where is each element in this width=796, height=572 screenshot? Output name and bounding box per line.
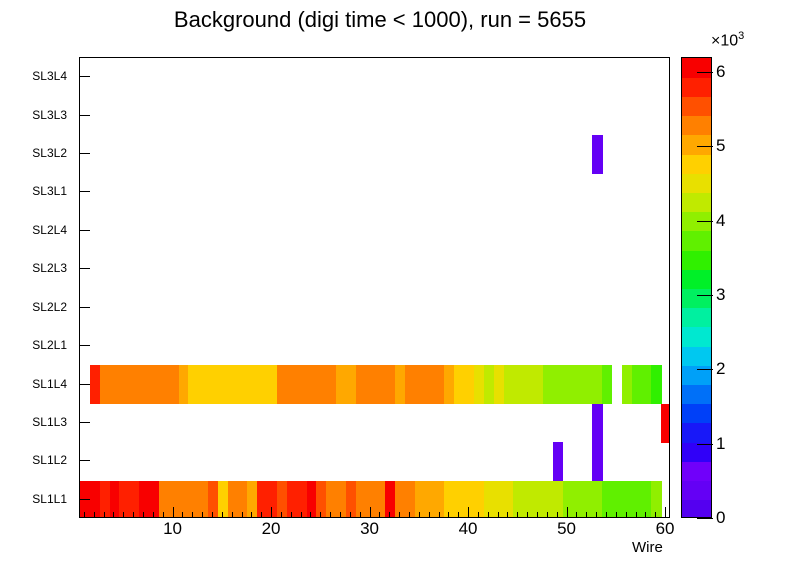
x-tick-minor [586, 512, 587, 518]
y-tick-label-sl3l4: SL3L4 [32, 69, 67, 83]
y-tick-label-sl2l2: SL2L2 [32, 300, 67, 314]
colorbar-tick-label-5: 5 [716, 136, 725, 156]
colorbar-tick [697, 72, 713, 73]
x-tick-minor [537, 512, 538, 518]
colorbar-tick [697, 444, 713, 445]
x-tick-minor [320, 512, 321, 518]
heatmap-cell [119, 481, 129, 518]
heatmap-cell [247, 365, 257, 404]
heatmap-cell [316, 481, 326, 518]
colorbar-band [682, 250, 711, 270]
y-tick-mark [79, 115, 90, 116]
colorbar-band [682, 385, 711, 405]
x-tick-major [271, 507, 272, 518]
heatmap-cell [592, 135, 602, 174]
colorbar-exponent-label: ×103 [711, 30, 744, 50]
heatmap-cell [661, 404, 670, 443]
root-canvas: Background (digi time < 1000), run = 565… [0, 0, 796, 572]
x-tick-minor [448, 512, 449, 518]
colorbar-tick-label-1: 1 [716, 434, 725, 454]
colorbar-tick-label-0: 0 [716, 508, 725, 528]
x-tick-minor [340, 512, 341, 518]
colorbar-band [682, 135, 711, 155]
x-tick-minor [527, 512, 528, 518]
heatmap-cell [464, 365, 474, 404]
y-tick-mark [79, 422, 90, 423]
y-tick-label-sl3l3: SL3L3 [32, 108, 67, 122]
colorbar-tick [697, 369, 713, 370]
y-tick-label-sl1l2: SL1L2 [32, 453, 67, 467]
heatmap-cell [119, 365, 129, 404]
heatmap-cell [415, 481, 425, 518]
page-title: Background (digi time < 1000), run = 565… [0, 7, 760, 33]
heatmap-cell [553, 442, 563, 481]
heatmap-cell [464, 481, 474, 518]
x-tick-minor [202, 512, 203, 518]
x-tick-minor [261, 512, 262, 518]
y-tick-mark [79, 307, 90, 308]
colorbar-band [682, 442, 711, 462]
colorbar-tick [697, 221, 713, 222]
x-tick-minor [507, 512, 508, 518]
colorbar-tick-label-6: 6 [716, 62, 725, 82]
x-tick-minor [104, 512, 105, 518]
y-axis: SL3L4SL3L3SL3L2SL3L1SL2L4SL2L3SL2L2SL2L1… [0, 57, 74, 518]
x-tick-minor [133, 512, 134, 518]
x-tick-minor [488, 512, 489, 518]
x-tick-minor [330, 512, 331, 518]
x-tick-minor [153, 512, 154, 518]
colorbar-band [682, 500, 711, 518]
heatmap-cell [169, 481, 179, 518]
colorbar-band [682, 461, 711, 481]
heatmap-cell [444, 365, 454, 404]
heatmap-cell [218, 365, 228, 404]
y-tick-mark [79, 191, 90, 192]
y-tick-label-sl3l1: SL3L1 [32, 184, 67, 198]
colorbar-exponent-base: ×10 [711, 32, 738, 49]
x-tick-minor [655, 512, 656, 518]
heatmap-cell [218, 481, 228, 518]
heatmap-cell [543, 481, 553, 518]
y-tick-mark [79, 499, 90, 500]
heatmap-cell [641, 481, 651, 518]
colorbar-band [682, 423, 711, 443]
colorbar-band [682, 231, 711, 251]
colorbar-band [682, 289, 711, 309]
heatmap-cell [395, 481, 405, 518]
heatmap-cell [494, 481, 504, 518]
heatmap-cell [267, 481, 277, 518]
heatmap-cell [100, 365, 110, 404]
x-tick-minor [301, 512, 302, 518]
x-tick-minor [636, 512, 637, 518]
heatmap-cell [198, 365, 208, 404]
colorbar-band [682, 481, 711, 501]
colorbar-band [682, 308, 711, 328]
heatmap-cell [494, 365, 504, 404]
colorbar-band [682, 365, 711, 385]
x-tick-minor [429, 512, 430, 518]
colorbar-exponent-power: 3 [738, 30, 744, 42]
heatmap-cell [444, 481, 454, 518]
heatmap-cell [297, 481, 307, 518]
heatmap-cell [149, 481, 159, 518]
plot-frame[interactable] [79, 57, 670, 518]
y-tick-label-sl2l3: SL2L3 [32, 261, 67, 275]
x-tick-minor [626, 512, 627, 518]
x-tick-minor [399, 512, 400, 518]
colorbar-tick [697, 295, 713, 296]
x-tick-minor [517, 512, 518, 518]
colorbar-tick [697, 146, 713, 147]
x-tick-minor [281, 512, 282, 518]
heatmap-cell [247, 481, 257, 518]
colorbar-tick [697, 518, 713, 519]
x-tick-minor [389, 512, 390, 518]
colorbar-band [682, 154, 711, 174]
x-tick-major [665, 507, 666, 518]
colorbar-tick-label-2: 2 [716, 359, 725, 379]
colorbar-band [682, 116, 711, 136]
x-tick-minor [350, 512, 351, 518]
x-tick-minor [192, 512, 193, 518]
colorbar-band [682, 77, 711, 97]
colorbar-band [682, 346, 711, 366]
y-tick-label-sl1l1: SL1L1 [32, 492, 67, 506]
heatmap-cell [198, 481, 208, 518]
y-tick-label-sl1l4: SL1L4 [32, 377, 67, 391]
x-tick-minor [360, 512, 361, 518]
y-tick-mark [79, 345, 90, 346]
y-tick-mark [79, 460, 90, 461]
x-tick-major [370, 507, 371, 518]
y-tick-mark [79, 230, 90, 231]
x-tick-minor [576, 512, 577, 518]
x-tick-minor [310, 512, 311, 518]
x-tick-minor [606, 512, 607, 518]
colorbar-band [682, 404, 711, 424]
x-tick-minor [498, 512, 499, 518]
heatmap-cell [149, 365, 159, 404]
x-tick-minor [439, 512, 440, 518]
colorbar-band [682, 327, 711, 347]
heatmap-cell [563, 365, 573, 404]
heatmap-cell [592, 481, 602, 518]
x-tick-minor [616, 512, 617, 518]
heatmap-cell [316, 365, 326, 404]
heatmap-cell [592, 365, 602, 404]
heatmap-cell [513, 481, 523, 518]
x-tick-label-10: 10 [163, 519, 182, 539]
x-tick-minor [182, 512, 183, 518]
x-tick-minor [596, 512, 597, 518]
heatmap-cell [592, 442, 602, 481]
heatmap-cell [267, 365, 277, 404]
heatmap-cell [641, 365, 651, 404]
y-tick-mark [79, 384, 90, 385]
heatmap-cell [592, 404, 602, 443]
heatmap-cell [366, 481, 376, 518]
y-tick-mark [79, 153, 90, 154]
x-tick-minor [232, 512, 233, 518]
heatmap-cell [651, 365, 661, 404]
x-tick-label-20: 20 [262, 519, 281, 539]
x-tick-label-50: 50 [557, 519, 576, 539]
x-tick-minor [212, 512, 213, 518]
heatmap-cell [602, 365, 612, 404]
heatmap-cell [651, 481, 661, 518]
heatmap-cell [513, 365, 523, 404]
colorbar[interactable] [681, 57, 712, 518]
heatmap-cell [100, 481, 110, 518]
y-tick-label-sl1l3: SL1L3 [32, 415, 67, 429]
colorbar-tick-label-3: 3 [716, 285, 725, 305]
colorbar-band [682, 269, 711, 289]
heatmap-cell [366, 365, 376, 404]
colorbar-band [682, 173, 711, 193]
x-tick-minor [123, 512, 124, 518]
x-tick-label-60: 60 [656, 519, 675, 539]
x-tick-minor [419, 512, 420, 518]
heatmap-cell [563, 481, 573, 518]
x-tick-major [468, 507, 469, 518]
y-tick-label-sl2l4: SL2L4 [32, 223, 67, 237]
x-tick-minor [94, 512, 95, 518]
heatmap-cell [415, 365, 425, 404]
x-tick-minor [242, 512, 243, 518]
colorbar-tick-label-4: 4 [716, 211, 725, 231]
x-tick-minor [84, 512, 85, 518]
colorbar-band [682, 58, 711, 78]
heatmap-cell [395, 365, 405, 404]
heatmap-cell [346, 365, 356, 404]
heatmap-cell [612, 481, 622, 518]
heatmap-cell [297, 365, 307, 404]
heatmap-cell [543, 365, 553, 404]
x-tick-minor [113, 512, 114, 518]
x-tick-label-40: 40 [459, 519, 478, 539]
heatmap-cell [169, 365, 179, 404]
x-tick-major [567, 507, 568, 518]
heatmap-cells[interactable] [80, 58, 669, 517]
y-tick-mark [79, 268, 90, 269]
colorbar-band [682, 192, 711, 212]
colorbar-band [682, 96, 711, 116]
heatmap-cell [346, 481, 356, 518]
x-tick-minor [547, 512, 548, 518]
y-tick-label-sl2l1: SL2L1 [32, 338, 67, 352]
x-tick-minor [478, 512, 479, 518]
y-tick-label-sl3l2: SL3L2 [32, 146, 67, 160]
x-axis-title: Wire [632, 539, 663, 556]
y-tick-mark [79, 76, 90, 77]
x-tick-minor [291, 512, 292, 518]
x-tick-minor [222, 512, 223, 518]
x-tick-minor [557, 512, 558, 518]
x-tick-minor [143, 512, 144, 518]
x-tick-minor [251, 512, 252, 518]
x-tick-minor [409, 512, 410, 518]
x-tick-minor [645, 512, 646, 518]
x-tick-minor [379, 512, 380, 518]
x-tick-major [173, 507, 174, 518]
x-tick-minor [163, 512, 164, 518]
x-tick-minor [458, 512, 459, 518]
x-tick-label-30: 30 [360, 519, 379, 539]
